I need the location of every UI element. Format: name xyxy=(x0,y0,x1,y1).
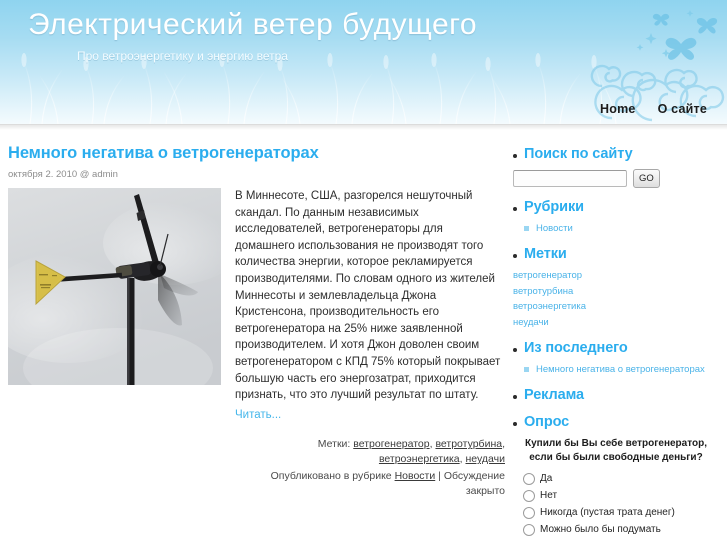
footer-separator: | xyxy=(438,470,441,482)
post-tag-vetroenergetika[interactable]: ветроэнергетика xyxy=(379,453,460,465)
sidebar: Поиск по сайту GO Рубрики Новости Метки … xyxy=(505,130,727,547)
butterfly-icon xyxy=(653,14,717,60)
list-item: Немного негатива о ветрогенераторах xyxy=(513,363,719,376)
list-item: Новости xyxy=(513,222,719,235)
radio-button-never[interactable] xyxy=(523,507,535,519)
poll-options-list: Да Нет Никогда (пустая трата денег) Можн… xyxy=(513,473,719,536)
categories-list: Новости xyxy=(513,222,719,235)
main-content: Немного негатива о ветрогенераторах октя… xyxy=(0,130,505,499)
widget-tags: Метки ветрогенератор ветротурбина ветроэ… xyxy=(513,246,719,329)
post-tag-neudachi[interactable]: неудачи xyxy=(466,453,506,465)
widget-title-categories: Рубрики xyxy=(513,199,719,215)
poll-option-no[interactable]: Нет xyxy=(523,490,719,502)
tag-link-vetrogenerator[interactable]: ветрогенератор xyxy=(513,270,582,281)
list-item: ветрогенератор xyxy=(513,269,719,283)
list-item: неудачи xyxy=(513,316,719,330)
widget-categories: Рубрики Новости xyxy=(513,199,719,235)
post-article: Немного негатива о ветрогенераторах октя… xyxy=(8,144,505,499)
tag-link-vetroturbina[interactable]: ветротурбина xyxy=(513,286,573,297)
radio-button-no[interactable] xyxy=(523,490,535,502)
search-input[interactable] xyxy=(513,170,627,187)
poll-option-label: Никогда (пустая трата денег) xyxy=(540,507,675,519)
widget-title-search: Поиск по сайту xyxy=(513,146,719,162)
post-meta: октября 2. 2010 @ admin xyxy=(8,169,505,180)
search-go-button[interactable]: GO xyxy=(633,169,660,188)
recent-post-link[interactable]: Немного негатива о ветрогенераторах xyxy=(536,364,705,375)
site-header: Электрический ветер будущего Про ветроэн… xyxy=(0,0,727,124)
widget-recent-posts: Из последнего Немного негатива о ветроге… xyxy=(513,340,719,376)
radio-button-yes[interactable] xyxy=(523,473,535,485)
radio-button-maybe[interactable] xyxy=(523,524,535,536)
poll-option-label: Нет xyxy=(540,490,557,502)
widget-ads: Реклама xyxy=(513,387,719,403)
search-form: GO xyxy=(513,169,719,188)
post-tag-vetroturbina[interactable]: ветротурбина xyxy=(435,438,502,450)
post-tags-line: Метки: ветрогенератор, ветротурбина, вет… xyxy=(235,437,505,467)
page-body: Немного негатива о ветрогенераторах октя… xyxy=(0,130,727,547)
site-title: Электрический ветер будущего xyxy=(28,8,477,42)
widget-title-poll: Опрос xyxy=(513,414,719,430)
post-text: В Миннесоте, США, разгорелся нешуточный … xyxy=(235,188,505,423)
published-prefix: Опубликовано в рубрике xyxy=(271,470,392,482)
poll-option-label: Да xyxy=(540,473,552,485)
category-link-novosti[interactable]: Новости xyxy=(536,223,573,234)
post-footer: Метки: ветрогенератор, ветротурбина, вет… xyxy=(235,437,505,499)
widget-search: Поиск по сайту GO xyxy=(513,146,719,188)
poll-question: Купили бы Вы себе ветрогенератор, если б… xyxy=(513,437,719,465)
tag-link-vetroenergetika[interactable]: ветроэнергетика xyxy=(513,301,586,312)
nav-item-about[interactable]: О сайте xyxy=(658,102,707,116)
poll-option-never[interactable]: Никогда (пустая трата денег) xyxy=(523,507,719,519)
post-category-line: Опубликовано в рубрике Новости | Обсужде… xyxy=(235,469,505,499)
widget-title-ads: Реклама xyxy=(513,387,719,403)
poll-option-maybe[interactable]: Можно было бы подумать xyxy=(523,524,719,536)
post-paragraph: В Миннесоте, США, разгорелся нешуточный … xyxy=(235,188,505,404)
read-more-link[interactable]: Читать... xyxy=(235,407,281,424)
post-thumbnail[interactable] xyxy=(8,188,221,385)
tag-cloud-list: ветрогенератор ветротурбина ветроэнергет… xyxy=(513,269,719,329)
post-title[interactable]: Немного негатива о ветрогенераторах xyxy=(8,144,505,163)
widget-title-tags: Метки xyxy=(513,246,719,262)
comments-status: Обсуждение закрыто xyxy=(444,470,505,497)
list-item: ветротурбина xyxy=(513,285,719,299)
widget-poll: Опрос Купили бы Вы себе ветрогенератор, … xyxy=(513,414,719,536)
sparkle-icon xyxy=(637,10,694,57)
recent-posts-list: Немного негатива о ветрогенераторах xyxy=(513,363,719,376)
nav-item-home[interactable]: Home xyxy=(600,102,636,116)
tags-label: Метки: xyxy=(318,438,351,450)
list-item: ветроэнергетика xyxy=(513,300,719,314)
poll-option-yes[interactable]: Да xyxy=(523,473,719,485)
wind-turbine-photo xyxy=(8,188,221,385)
post-category-link[interactable]: Новости xyxy=(395,470,436,482)
widget-title-recent: Из последнего xyxy=(513,340,719,356)
tag-link-neudachi[interactable]: неудачи xyxy=(513,317,549,328)
post-body: В Миннесоте, США, разгорелся нешуточный … xyxy=(8,188,505,499)
primary-navigation: Home О сайте xyxy=(600,102,707,116)
post-tag-vetrogenerator[interactable]: ветрогенератор xyxy=(353,438,429,450)
poll-option-label: Можно было бы подумать xyxy=(540,524,661,536)
site-description: Про ветроэнергетику и энергию ветра xyxy=(77,49,288,63)
